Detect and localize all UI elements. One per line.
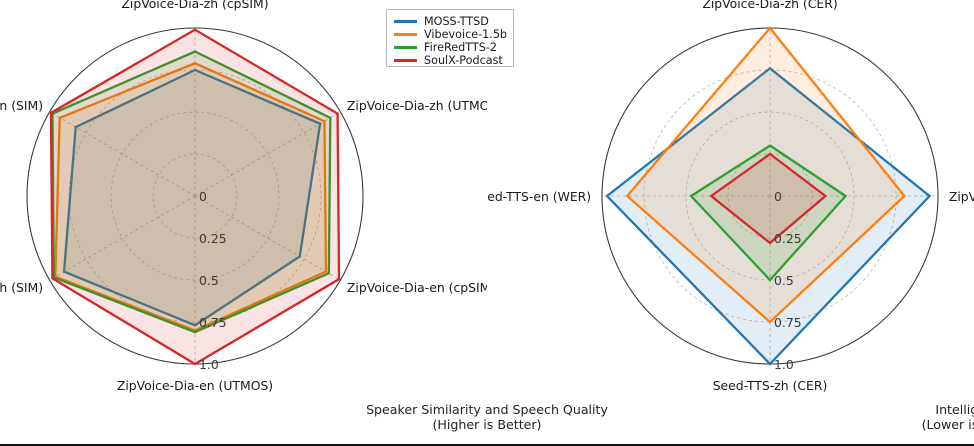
legend-color-swatch (394, 33, 417, 36)
r-tick-label: 0.25 (199, 231, 227, 246)
axis-label: ZipVoice-Dia-en (WER) (949, 189, 974, 204)
r-tick-label: 0.5 (774, 273, 794, 288)
r-tick-label: 1.0 (199, 357, 219, 372)
r-tick-label: 0.5 (199, 273, 219, 288)
legend-color-swatch (394, 46, 417, 49)
legend-color-swatch (394, 59, 417, 62)
axis-label: Seed-TTS-en (WER) (487, 189, 591, 204)
r-tick-label: 0 (774, 189, 782, 204)
caption-right-line2: (Lower is Better) (487, 418, 974, 433)
legend-item-label: Vibevoice-1.5b (424, 28, 507, 41)
legend-item-label: MOSS-TTSD (424, 15, 489, 28)
legend-item[interactable]: Vibevoice-1.5b (394, 28, 506, 41)
legend: MOSS-TTSDVibevoice-1.5bFireRedTTS-2SoulX… (386, 9, 514, 67)
axis-label: Seed-TTS-en (SIM) (0, 98, 43, 113)
legend-color-swatch (394, 20, 417, 23)
axis-label: ZipVoice-Dia-en (UTMOS) (117, 378, 273, 393)
caption-right: Intelligibility (Lower is Better) (487, 403, 974, 432)
radar-svg-right: 00.250.50.751.0ZipVoice-Dia-zh (CER)ZipV… (487, 0, 974, 400)
axis-label: Seed-TTS-zh (SIM) (0, 280, 43, 295)
caption-right-line1: Intelligibility (487, 403, 974, 418)
axis-label: ZipVoice-Dia-zh (CER) (702, 0, 837, 11)
r-tick-label: 0.75 (774, 315, 802, 330)
axis-label: ZipVoice-Dia-zh (UTMOS) (347, 98, 487, 113)
radar-figure: 00.250.50.751.0ZipVoice-Dia-zh (cpSIM)Zi… (0, 0, 974, 446)
radar-series-fill (51, 30, 339, 364)
r-tick-label: 1.0 (774, 357, 794, 372)
radar-chart-intelligibility: 00.250.50.751.0ZipVoice-Dia-zh (CER)ZipV… (487, 0, 974, 446)
legend-item-label: FireRedTTS-2 (424, 41, 497, 54)
legend-item[interactable]: MOSS-TTSD (394, 15, 506, 28)
r-tick-label: 0 (199, 189, 207, 204)
axis-label: Seed-TTS-zh (CER) (713, 378, 828, 393)
legend-item[interactable]: SoulX-Podcast (394, 54, 506, 67)
legend-item[interactable]: FireRedTTS-2 (394, 41, 506, 54)
axis-label: ZipVoice-Dia-zh (cpSIM) (121, 0, 268, 11)
axis-label: ZipVoice-Dia-en (cpSIM) (347, 280, 487, 295)
r-tick-label: 0.75 (199, 315, 227, 330)
r-tick-label: 0.25 (774, 231, 802, 246)
legend-item-label: SoulX-Podcast (424, 54, 503, 67)
radar-series (51, 30, 339, 364)
